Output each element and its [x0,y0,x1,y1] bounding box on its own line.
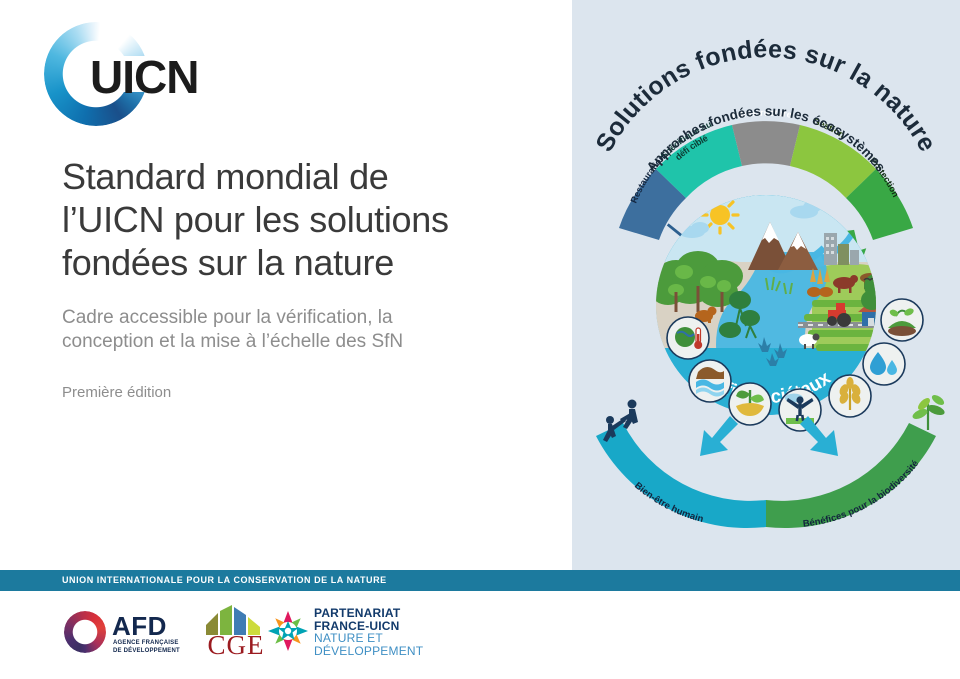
crop-icon [810,268,830,284]
challenge-bubble-water-security [829,375,871,417]
challenge-bubble-climate-change [667,317,709,359]
challenge-bubble-ecosystem-degradation [881,299,923,341]
afd-tagline-line-1: AGENCE FRANÇAISE [113,640,179,646]
page-subtitle-line-1: Cadre accessible pour la vérification, l… [62,307,393,328]
footer-partner-logos: AFD AGENCE FRANÇAISE DE DÉVELOPPEMENT CG… [0,591,960,679]
nbs-framework-diagram: Restauration Spécifique au défi ciblé In [572,0,960,570]
cover-right-panel: Restauration Spécifique au défi ciblé In [572,0,960,570]
arrow-to-human-wellbeing [700,416,738,456]
afd-tagline-line-2: DE DÉVELOPPEMENT [113,648,180,654]
cge-logo: CGE [196,605,276,657]
partenariat-line-3: NATURE ET [314,632,423,645]
cover-left-panel: UICN Standard mondial de l’UICN pour les… [0,0,572,570]
edition-label: Première édition [62,384,562,401]
partenariat-logo: PARTENARIAT FRANCE-UICN NATURE ET DÉVELO… [266,605,426,657]
leaf-icon [911,393,946,430]
partenariat-star-icon [266,609,310,653]
uicn-wordmark: UICN [90,54,198,100]
footer-banner-text: UNION INTERNATIONALE POUR LA CONSERVATIO… [62,575,387,585]
challenge-bubble-disaster-risk [689,360,731,402]
page-subtitle-line-2: conception et la mise à l’échelle des Sf… [62,331,403,352]
afd-logo: AFD AGENCE FRANÇAISE DE DÉVELOPPEMENT [64,609,184,655]
page-title: Standard mondial de l’UICN pour les solu… [62,155,562,284]
page-title-line-3: fondées sur la nature [62,242,394,283]
title-block: Standard mondial de l’UICN pour les solu… [62,155,562,401]
cover-page: UICN Standard mondial de l’UICN pour les… [0,0,960,679]
partenariat-line-4: DÉVELOPPEMENT [314,645,423,658]
afd-ring-icon [64,611,106,653]
page-title-line-2: l’UICN pour les solutions [62,199,449,240]
afd-tagline: AGENCE FRANÇAISE DE DÉVELOPPEMENT [113,640,180,655]
arrow-to-biodiversity [800,416,838,456]
outcome-arc-biodiversity: Bénéfices pour la biodiversité [766,423,936,530]
page-subtitle: Cadre accessible pour la vérification, l… [62,306,562,354]
afd-wordmark: AFD [112,613,167,639]
challenge-bubble-food-security [729,383,771,425]
cge-wordmark: CGE [196,631,276,659]
outcome-arc-human-wellbeing: Bien-être humain [596,423,766,528]
uicn-logo: UICN [44,22,192,126]
partenariat-wordmark: PARTENARIAT FRANCE-UICN NATURE ET DÉVELO… [314,607,423,657]
challenge-bubble-water-drop [863,343,905,385]
page-title-line-1: Standard mondial de [62,156,389,197]
partenariat-line-1: PARTENARIAT [314,607,423,620]
